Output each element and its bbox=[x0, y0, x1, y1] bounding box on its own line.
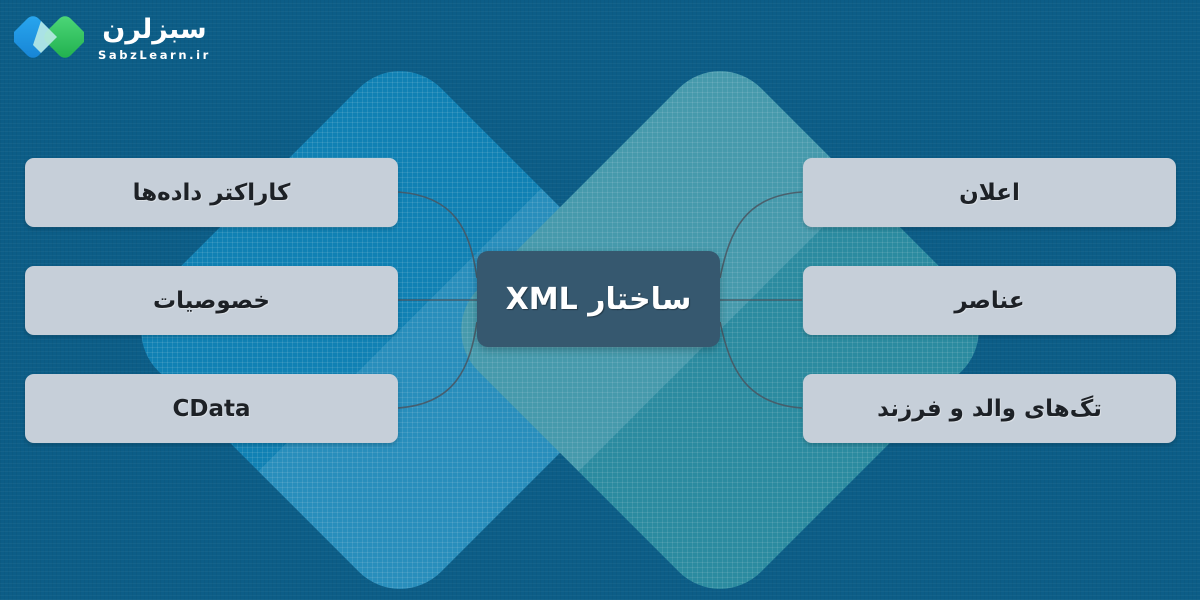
connector-left-bottom bbox=[398, 322, 477, 408]
node-right-1[interactable]: اعلان bbox=[803, 158, 1176, 227]
brand-name-en: SabzLearn.ir bbox=[98, 50, 211, 62]
connector-right-bottom bbox=[720, 322, 802, 408]
node-right-3-label: تگ‌های والد و فرزند bbox=[877, 396, 1102, 422]
node-right-2-label: عناصر bbox=[954, 288, 1024, 314]
node-left-2-label: خصوصیات bbox=[153, 288, 270, 314]
double-diamond-logo-icon bbox=[14, 8, 84, 70]
node-left-1[interactable]: کاراکتر داده‌ها bbox=[25, 158, 398, 227]
node-left-1-label: کاراکتر داده‌ها bbox=[133, 180, 291, 206]
brand-wordmark: سبزلرن SabzLearn.ir bbox=[98, 16, 211, 62]
node-left-3-label: CData bbox=[173, 396, 251, 422]
connector-right-top bbox=[720, 192, 802, 278]
node-left-3[interactable]: CData bbox=[25, 374, 398, 443]
connector-left-top bbox=[398, 192, 477, 278]
node-right-2[interactable]: عناصر bbox=[803, 266, 1176, 335]
brand-name-fa: سبزلرن bbox=[102, 16, 206, 43]
infographic-canvas: سبزلرن SabzLearn.ir کاراکتر داده‌ها خصوص bbox=[0, 0, 1200, 600]
center-node[interactable]: ساختار XML bbox=[477, 251, 720, 347]
brand-logo[interactable]: سبزلرن SabzLearn.ir bbox=[14, 8, 211, 70]
node-left-2[interactable]: خصوصیات bbox=[25, 266, 398, 335]
center-node-label: ساختار XML bbox=[506, 282, 692, 317]
node-right-3[interactable]: تگ‌های والد و فرزند bbox=[803, 374, 1176, 443]
node-right-1-label: اعلان bbox=[959, 180, 1020, 206]
